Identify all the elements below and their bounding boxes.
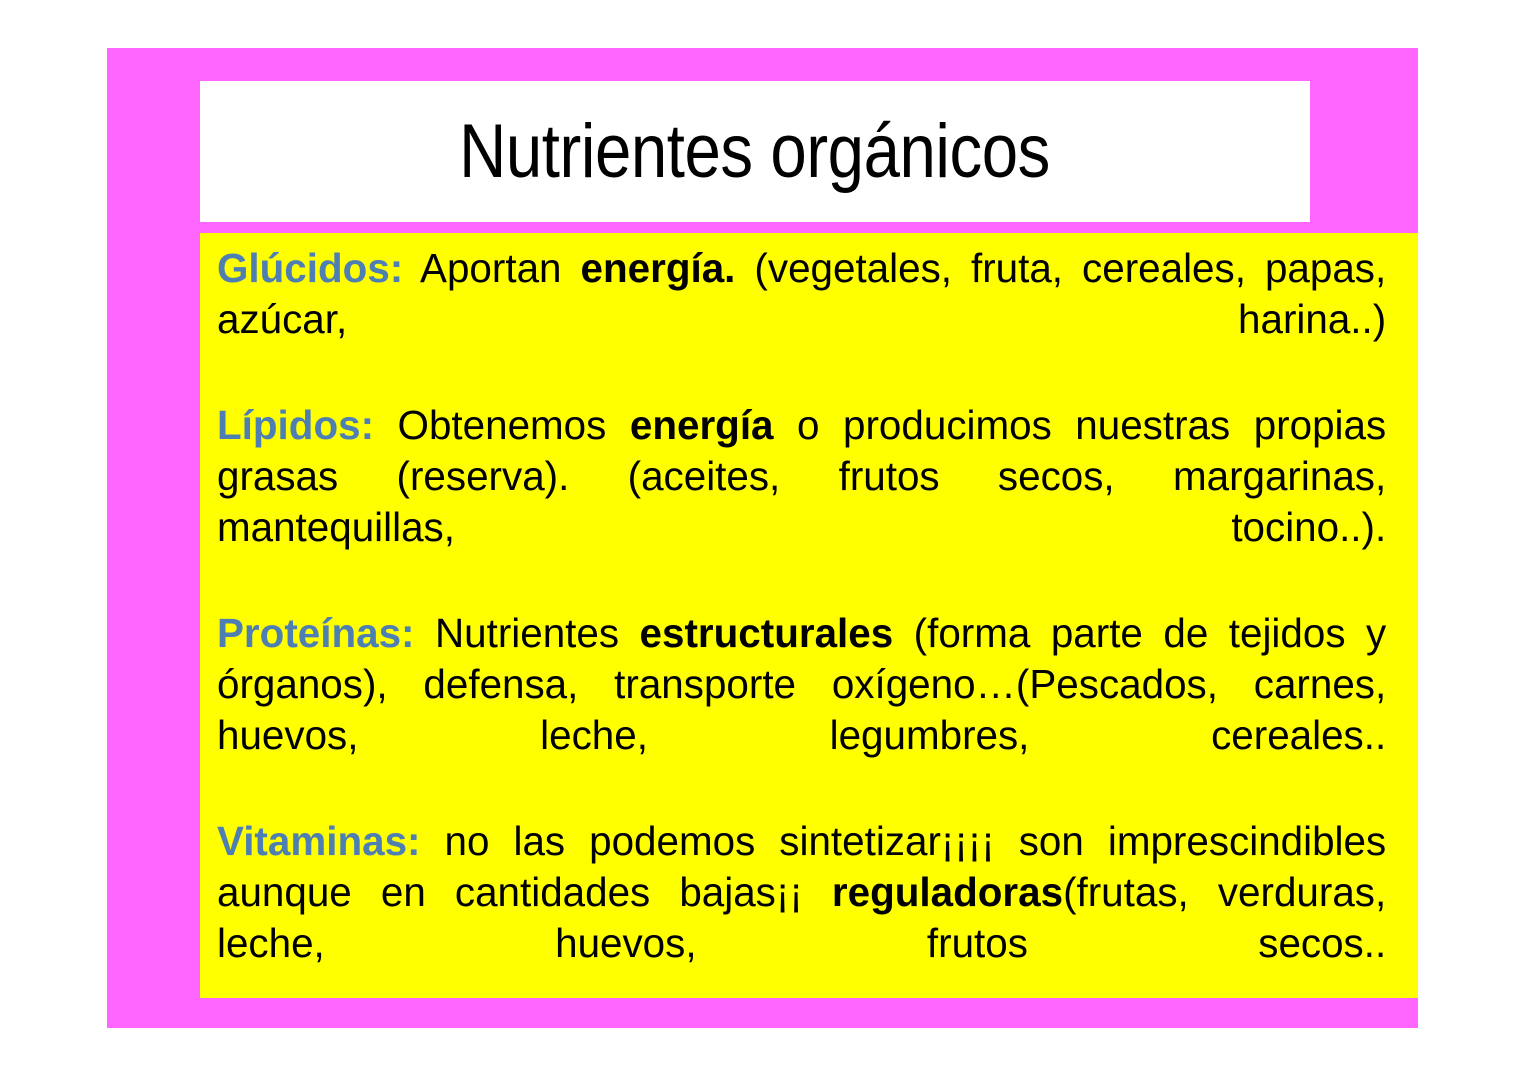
nutrient-paragraph-proteinas: Proteínas: Nutrientes estructurales (for… <box>217 608 1400 812</box>
slide-content-body: Glúcidos: Aportan energía. (vegetales, f… <box>200 233 1418 998</box>
nutrient-text-lipidos-pre: Obtenemos <box>374 402 630 448</box>
nutrient-label-vitaminas: Vitaminas: <box>217 818 421 864</box>
nutrient-emphasis-vitaminas: reguladoras <box>832 869 1063 915</box>
nutrient-paragraph-glucidos: Glúcidos: Aportan energía. (vegetales, f… <box>217 243 1400 396</box>
nutrient-label-glucidos: Glúcidos: <box>217 245 403 291</box>
nutrient-text-proteinas-pre: Nutrientes <box>414 610 639 656</box>
nutrient-label-lipidos: Lípidos: <box>217 402 374 448</box>
page-title: Nutrientes orgánicos <box>460 112 1051 192</box>
nutrient-emphasis-proteinas: estructurales <box>640 610 894 656</box>
slide-canvas: Nutrientes orgánicos Glúcidos: Aportan e… <box>0 0 1527 1080</box>
nutrient-emphasis-glucidos: energía. <box>581 245 736 291</box>
nutrient-paragraph-lipidos: Lípidos: Obtenemos energía o producimos … <box>217 400 1400 604</box>
nutrient-text-glucidos-pre: Aportan <box>403 245 580 291</box>
nutrient-label-proteinas: Proteínas: <box>217 610 414 656</box>
nutrient-emphasis-lipidos: energía <box>630 402 774 448</box>
slide-title-plate: Nutrientes orgánicos <box>200 81 1310 222</box>
nutrient-paragraph-vitaminas: Vitaminas: no las podemos sintetizar¡¡¡¡… <box>217 816 1400 998</box>
